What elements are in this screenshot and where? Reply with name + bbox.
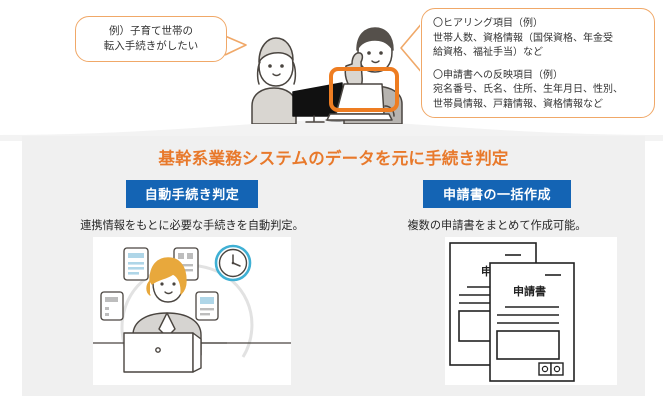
slide-root: 例）子育て世帯の 転入手続きがしたい [0,0,663,414]
staff-notes-bubble: 〇ヒアリング項目（例） 世帯人数、資格情報（国保資格、年金受 給資格、福祉手当）… [421,8,655,118]
column-bulk-creation: 申請書の一括作成 複数の申請書をまとめて作成可能。 [367,180,627,233]
consultation-illustration [226,6,426,124]
form-reflect-line-2: 宛名番号、氏名、住所、生年月日、性別、 [433,83,644,98]
caption-auto-determination: 連携情報をもとに必要な手続きを自動判定。 [62,217,322,233]
hearing-items-group: 〇ヒアリング項目（例） 世帯人数、資格情報（国保資格、年金受 給資格、福祉手当）… [433,17,644,61]
bubble-left-line-1: 例）子育て世帯の [109,24,193,39]
citizen-request-bubble: 例）子育て世帯の 転入手続きがしたい [75,16,227,62]
form-reflect-line-3: 世帯員情報、戸籍情報、資格情報など [433,98,644,113]
clerk-at-laptop-illustration [93,237,291,385]
bubble-left-line-2: 転入手続きがしたい [104,39,199,54]
chip-bulk-creation[interactable]: 申請書の一括作成 [423,180,571,208]
hearing-items-line-1: 〇ヒアリング項目（例） [433,17,644,32]
caption-bulk-creation: 複数の申請書をまとめて作成可能。 [367,217,627,233]
panel-title: 基幹系業務システムのデータを元に手続き判定 [22,145,645,169]
illustration-box-auto-determination [93,237,291,385]
hearing-items-line-3: 給資格、福祉手当）など [433,46,644,61]
bubble-spacer [433,61,644,69]
chip-auto-determination[interactable]: 自動手続き判定 [126,180,258,208]
hearing-items-line-2: 世帯人数、資格情報（国保資格、年金受 [433,32,644,47]
illustration-box-bulk-creation: 申請書 申請書 [445,237,617,385]
form-reflect-line-1: 〇申請書への反映項目（例） [433,69,644,84]
column-auto-determination: 自動手続き判定 連携情報をもとに必要な手続きを自動判定。 [62,180,322,233]
form-reflect-items-group: 〇申請書への反映項目（例） 宛名番号、氏名、住所、生年月日、性別、 世帯員情報、… [433,69,644,113]
front-form-title: 申請書 [513,284,546,298]
stacked-application-forms-illustration: 申請書 申請書 [445,237,617,385]
